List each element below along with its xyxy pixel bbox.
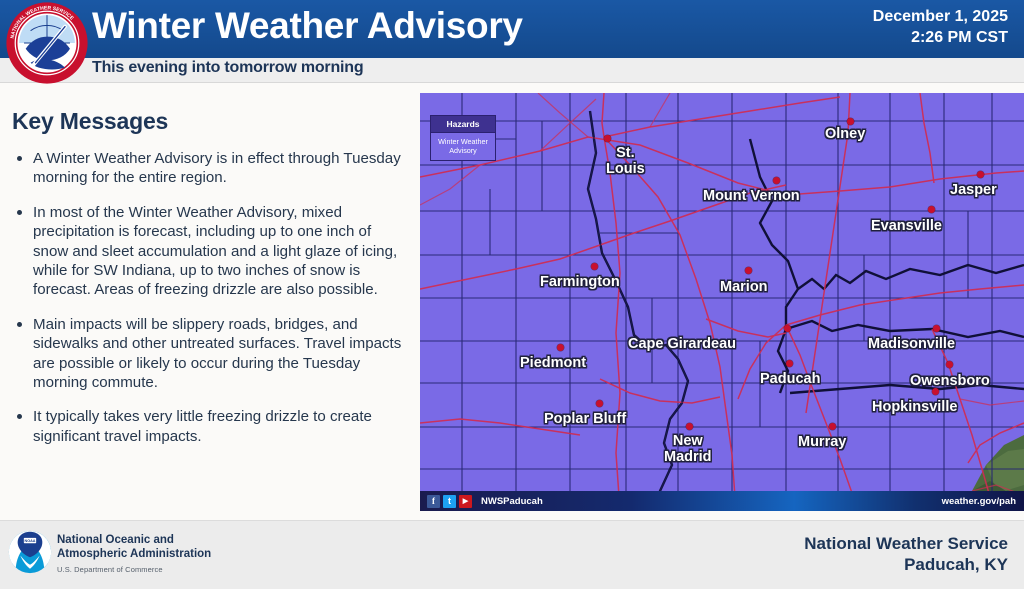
city-dot [786,360,793,367]
city-dot [773,177,780,184]
city-dot [686,423,693,430]
city-dot [829,423,836,430]
city-dot [977,171,984,178]
weather-advisory-graphic: NATIONAL WEATHER SERVICE Winter Weather … [0,0,1024,589]
youtube-icon[interactable]: ▶ [459,495,472,508]
city-dot [847,118,854,125]
list-item: Main impacts will be slippery roads, bri… [12,315,408,393]
list-item: A Winter Weather Advisory is in effect t… [12,149,408,188]
noaa-agency-name: National Oceanic and Atmospheric Adminis… [57,533,211,561]
city-dot [745,267,752,274]
key-messages-heading: Key Messages [12,108,408,135]
noaa-department-line: U.S. Department of Commerce [57,565,163,574]
city-dot [928,206,935,213]
map-legend: Hazards Winter Weather Advisory [430,115,496,161]
city-dot [596,400,603,407]
city-dot [557,344,564,351]
office-website-url[interactable]: weather.gov/pah [942,496,1016,507]
noaa-line-1: National Oceanic and [57,533,211,547]
social-links[interactable]: f t ▶ NWSPaducah [427,495,543,508]
city-dot [604,135,611,142]
svg-text:NOAA: NOAA [25,539,36,543]
city-dot [932,388,939,395]
city-dot [784,325,791,332]
noaa-logo-icon: NOAA [8,530,52,574]
key-messages-panel: Key Messages A Winter Weather Advisory i… [0,90,418,461]
twitter-icon[interactable]: t [443,495,456,508]
key-messages-list: A Winter Weather Advisory is in effect t… [12,149,408,446]
social-handle[interactable]: NWSPaducah [481,496,543,507]
header-subtitle: This evening into tomorrow morning [92,59,363,77]
city-dot [933,325,940,332]
page-title: Winter Weather Advisory [92,5,523,47]
hazard-map[interactable]: Hazards Winter Weather Advisory St.Louis… [420,93,1024,511]
header-timestamp: December 1, 2025 2:26 PM CST [873,6,1008,48]
city-dot [591,263,598,270]
legend-title: Hazards [430,115,496,132]
facebook-icon[interactable]: f [427,495,440,508]
page-footer: NOAA National Oceanic and Atmospheric Ad… [0,520,1024,589]
national-weather-service-seal-icon: NATIONAL WEATHER SERVICE [6,2,88,84]
list-item: In most of the Winter Weather Advisory, … [12,203,408,300]
map-footer-bar: f t ▶ NWSPaducah weather.gov/pah [420,491,1024,511]
list-item: It typically takes very little freezing … [12,407,408,446]
legend-entry-winter-weather-advisory: Winter Weather Advisory [430,132,496,161]
map-graphic [420,93,1024,511]
issuing-office: National Weather Service Paducah, KY [804,533,1008,575]
city-dot [946,361,953,368]
noaa-line-2: Atmospheric Administration [57,547,211,561]
issue-date: December 1, 2025 [873,6,1008,27]
issue-time: 2:26 PM CST [873,27,1008,48]
office-name: National Weather Service [804,533,1008,554]
office-location: Paducah, KY [804,554,1008,575]
